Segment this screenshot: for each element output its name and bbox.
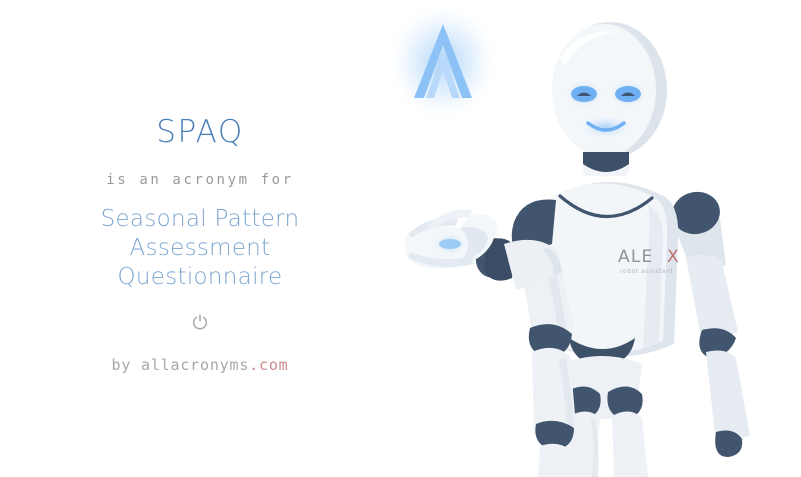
robot-head [552,22,667,158]
robot-neck [583,150,629,176]
credit-site: allacronyms [141,356,249,374]
credit-line: by allacronyms.com [0,354,400,376]
acronym-expansion: Seasonal Pattern Assessment Questionnair… [0,205,400,292]
acronym-title: SPAQ [0,113,400,151]
power-icon: ⏻ [0,311,400,335]
svg-text:ALE: ALE [618,247,653,267]
svg-text:X: X [667,247,679,267]
credit-prefix: by [112,356,142,374]
acronym-subtitle: is an acronym for [0,170,400,190]
credit-tld: .com [249,356,288,374]
svg-text:robot assistant: robot assistant [620,268,674,275]
robot-presenting-arm [405,208,568,290]
alex-robot-illustration: ALE X robot assistant [380,0,801,477]
acronym-text-block: SPAQ is an acronym for Seasonal Pattern … [0,0,400,477]
chest-logo: ALE X robot assistant [618,247,679,275]
robot-far-arm [668,187,750,457]
hologram-logo-icon [385,0,501,124]
expansion-line-1: Seasonal Pattern [0,205,400,234]
expansion-line-3: Questionnaire [0,263,400,292]
acronym-definition-image: SPAQ is an acronym for Seasonal Pattern … [0,0,801,477]
expansion-line-2: Assessment [0,234,400,263]
